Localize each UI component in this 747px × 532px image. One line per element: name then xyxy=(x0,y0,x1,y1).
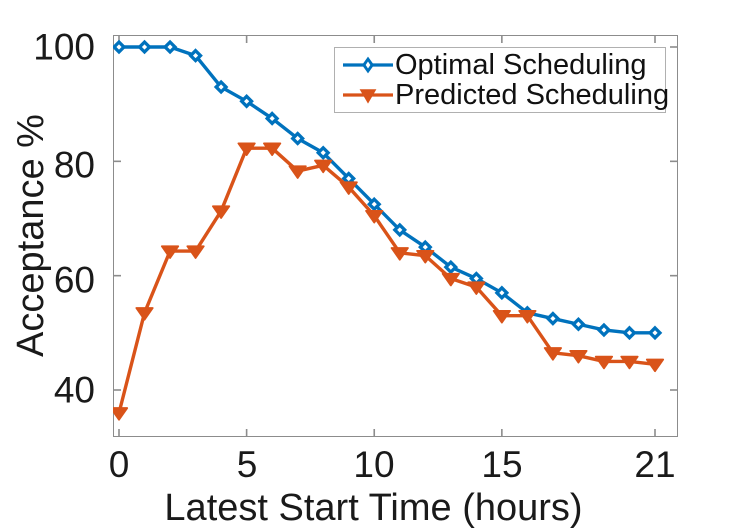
legend-marker-diamond-icon xyxy=(341,52,395,78)
y-axis-title: Acceptance % xyxy=(10,114,53,357)
y-axis-title-wrapper: Acceptance % xyxy=(0,0,62,470)
chart-figure: 100 80 60 40 0 5 10 15 21 Latest Start T… xyxy=(0,0,747,532)
legend-item-predicted-scheduling: Predicted Scheduling xyxy=(341,80,661,110)
x-tick-label-5: 5 xyxy=(237,446,258,483)
legend-marker-triangle-icon xyxy=(341,82,395,108)
x-tick-label-21: 21 xyxy=(634,446,675,483)
x-axis-title: Latest Start Time (hours) xyxy=(0,487,747,530)
x-tick-label-0: 0 xyxy=(109,446,130,483)
legend-item-optimal-scheduling: Optimal Scheduling xyxy=(341,50,661,80)
legend-label-optimal-scheduling: Optimal Scheduling xyxy=(395,51,646,80)
x-tick-label-10: 10 xyxy=(353,446,394,483)
chart-legend: Optimal Scheduling Predicted Scheduling xyxy=(334,47,666,113)
series-2 xyxy=(113,143,663,419)
x-tick-label-15: 15 xyxy=(481,446,522,483)
legend-label-predicted-scheduling: Predicted Scheduling xyxy=(395,81,669,110)
